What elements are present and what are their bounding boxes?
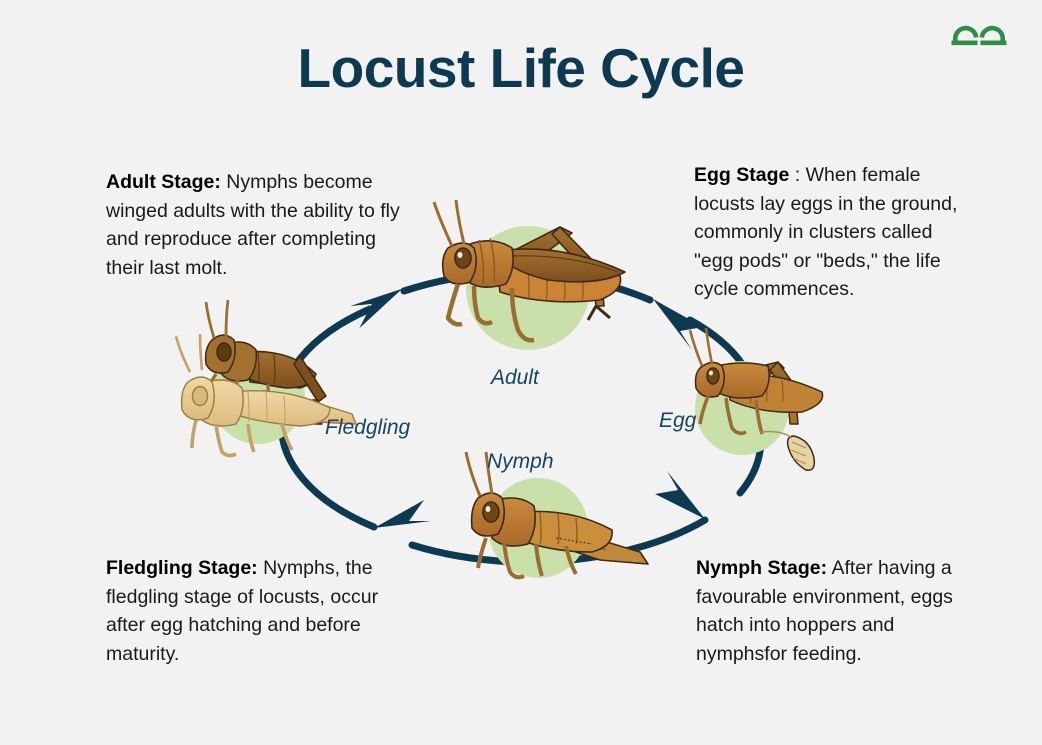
- cycle-label-fledgling: Fledgling: [325, 416, 410, 440]
- egg-locust-illustration: [690, 328, 823, 470]
- cycle-label-egg: Egg: [659, 409, 696, 433]
- arrowhead-to-egg: [653, 299, 703, 350]
- description-adult-stage: Adult Stage: Nymphs become winged adults…: [106, 168, 416, 282]
- description-fledgling-stage: Fledgling Stage: Nymphs, the fledgling s…: [106, 554, 381, 668]
- arrowhead-to-fledgling: [374, 500, 431, 528]
- arrowhead-to-adult: [349, 289, 406, 329]
- description-egg-stage: Egg Stage : When female locusts lay eggs…: [694, 161, 969, 304]
- cycle-label-adult: Adult: [491, 366, 539, 390]
- heading-fledgling-stage: Fledgling Stage:: [106, 557, 258, 579]
- arrowhead-to-nymph: [655, 471, 705, 519]
- heading-egg-stage: Egg Stage: [694, 164, 789, 186]
- heading-adult-stage: Adult Stage:: [106, 171, 221, 193]
- heading-nymph-stage: Nymph Stage:: [696, 557, 827, 579]
- adult-locust-illustration: [434, 200, 625, 350]
- description-nymph-stage: Nymph Stage: After having a favourable e…: [696, 554, 971, 668]
- cycle-label-nymph: Nymph: [487, 450, 554, 474]
